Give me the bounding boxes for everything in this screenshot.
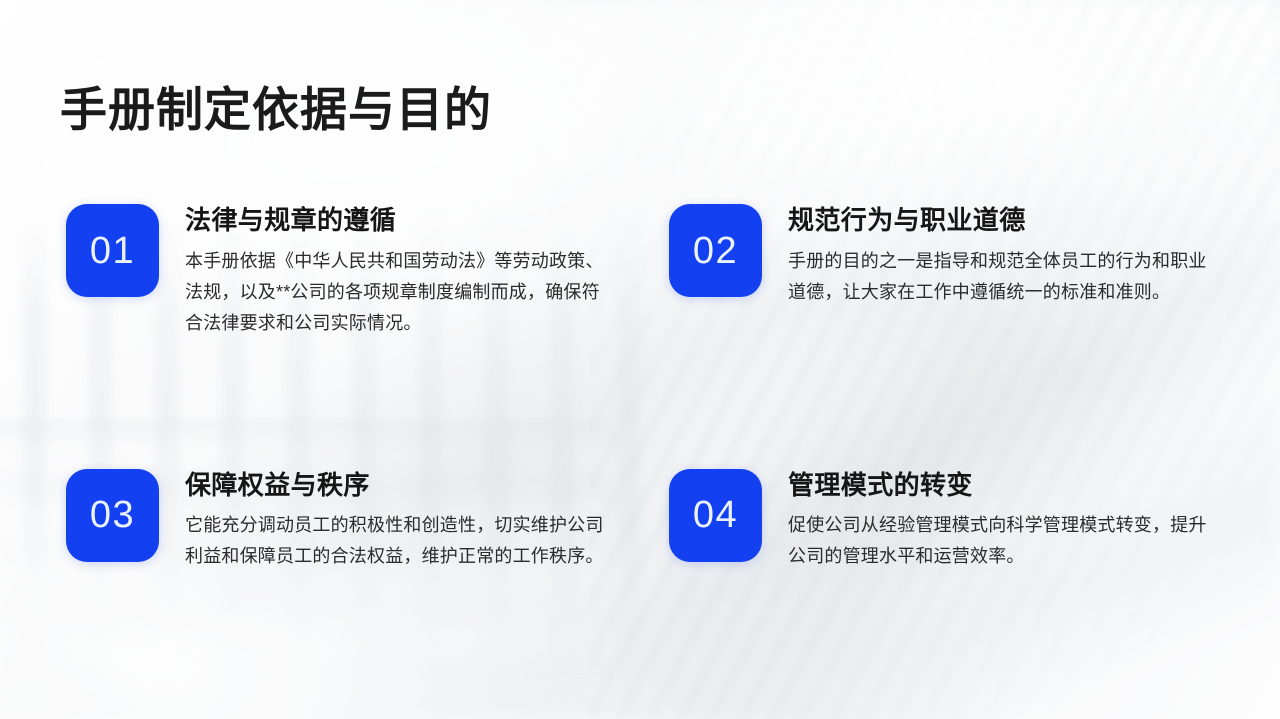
card-body: 规范行为与职业道德 手册的目的之一是指导和规范全体员工的行为和职业道德，让大家在…: [788, 204, 1218, 308]
slide-canvas: 手册制定依据与目的 01 法律与规章的遵循 本手册依据《中华人民共和国劳动法》等…: [0, 0, 1280, 719]
card-title: 管理模式的转变: [788, 470, 1218, 502]
card-description: 本手册依据《中华人民共和国劳动法》等劳动政策、法规，以及**公司的各项规章制度编…: [185, 246, 615, 339]
card-title: 规范行为与职业道德: [788, 205, 1218, 237]
number-badge: 03: [66, 469, 159, 562]
card-body: 法律与规章的遵循 本手册依据《中华人民共和国劳动法》等劳动政策、法规，以及**公…: [185, 204, 615, 339]
card-description: 促使公司从经验管理模式向科学管理模式转变，提升公司的管理水平和运营效率。: [788, 510, 1218, 572]
page-title: 手册制定依据与目的: [60, 83, 492, 137]
badge-number: 03: [90, 496, 135, 534]
list-item[interactable]: 01 法律与规章的遵循 本手册依据《中华人民共和国劳动法》等劳动政策、法规，以及…: [66, 204, 615, 339]
card-title: 保障权益与秩序: [185, 470, 615, 502]
card-grid: 01 法律与规章的遵循 本手册依据《中华人民共和国劳动法》等劳动政策、法规，以及…: [66, 204, 1218, 572]
badge-number: 04: [693, 496, 738, 534]
card-body: 管理模式的转变 促使公司从经验管理模式向科学管理模式转变，提升公司的管理水平和运…: [788, 469, 1218, 573]
badge-number: 02: [693, 232, 738, 270]
card-body: 保障权益与秩序 它能充分调动员工的积极性和创造性，切实维护公司利益和保障员工的合…: [185, 469, 615, 573]
number-badge: 01: [66, 204, 159, 297]
number-badge: 02: [669, 204, 762, 297]
card-description: 手册的目的之一是指导和规范全体员工的行为和职业道德，让大家在工作中遵循统一的标准…: [788, 246, 1218, 308]
badge-number: 01: [90, 232, 135, 270]
slide-content: 手册制定依据与目的 01 法律与规章的遵循 本手册依据《中华人民共和国劳动法》等…: [0, 0, 1280, 719]
card-description: 它能充分调动员工的积极性和创造性，切实维护公司利益和保障员工的合法权益，维护正常…: [185, 510, 615, 572]
list-item[interactable]: 02 规范行为与职业道德 手册的目的之一是指导和规范全体员工的行为和职业道德，让…: [669, 204, 1218, 339]
list-item[interactable]: 03 保障权益与秩序 它能充分调动员工的积极性和创造性，切实维护公司利益和保障员…: [66, 469, 615, 573]
number-badge: 04: [669, 469, 762, 562]
list-item[interactable]: 04 管理模式的转变 促使公司从经验管理模式向科学管理模式转变，提升公司的管理水…: [669, 469, 1218, 573]
card-title: 法律与规章的遵循: [185, 205, 615, 237]
